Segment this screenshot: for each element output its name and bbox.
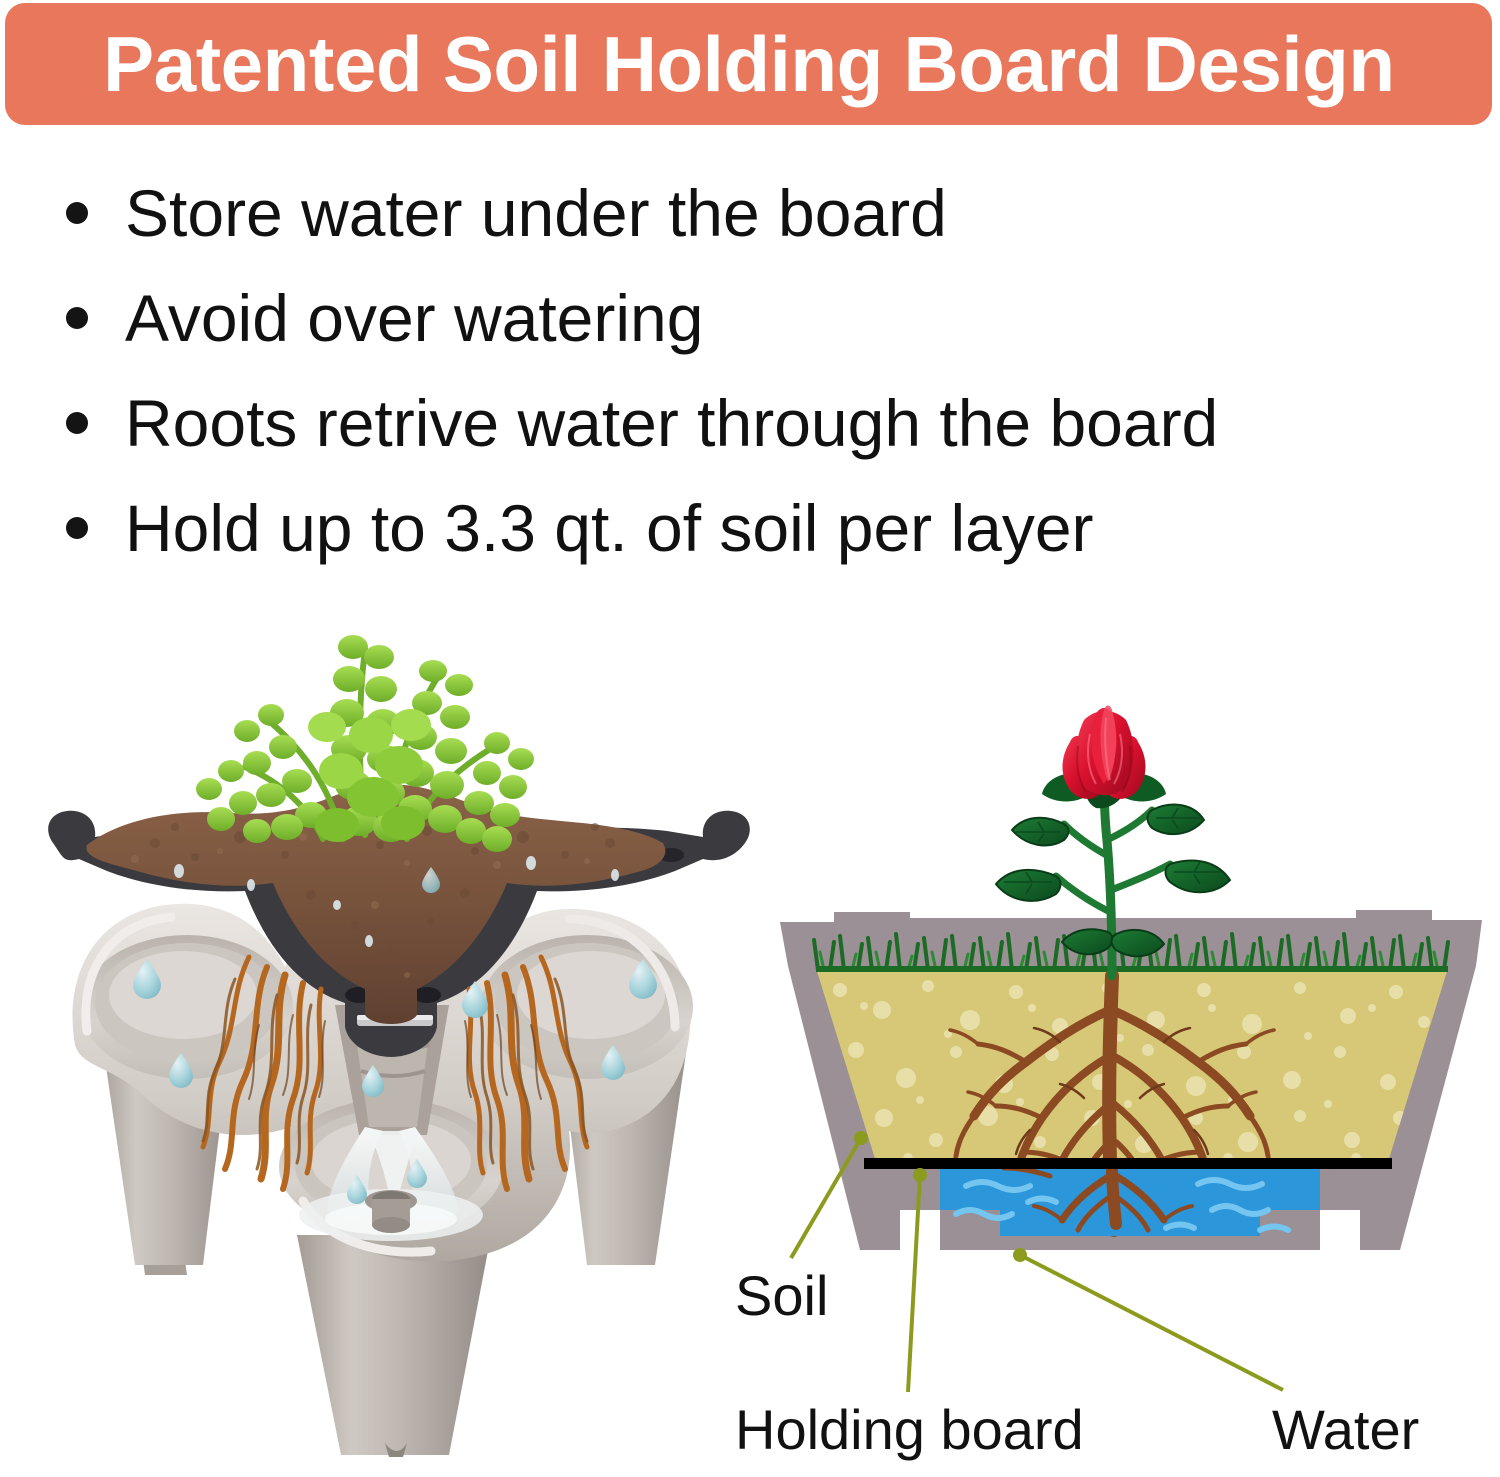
callout-label-water: Water xyxy=(1272,1402,1419,1458)
bullet-icon xyxy=(66,307,88,329)
feature-item: Store water under the board xyxy=(0,160,1500,265)
page-title: Patented Soil Holding Board Design xyxy=(103,25,1394,103)
feature-item: Hold up to 3.3 qt. of soil per layer xyxy=(0,475,1500,580)
callout-label-soil: Soil xyxy=(735,1268,828,1324)
feature-list: Store water under the board Avoid over w… xyxy=(0,160,1500,580)
bullet-icon xyxy=(66,202,88,224)
feature-label: Hold up to 3.3 qt. of soil per layer xyxy=(125,495,1094,561)
feature-label: Avoid over watering xyxy=(125,285,703,351)
header-banner: Patented Soil Holding Board Design xyxy=(5,3,1492,125)
feature-label: Roots retrive water through the board xyxy=(125,390,1218,456)
holding-board-line xyxy=(864,1158,1392,1169)
feature-item: Avoid over watering xyxy=(0,265,1500,370)
stacked-planter-photo xyxy=(35,575,765,1460)
bullet-icon xyxy=(66,517,88,539)
bullet-icon xyxy=(66,412,88,434)
feature-item: Roots retrive water through the board xyxy=(0,370,1500,475)
feature-label: Store water under the board xyxy=(125,180,947,246)
callout-label-holding-board: Holding board xyxy=(735,1402,1084,1458)
rose-bloom xyxy=(1042,706,1166,809)
pot-cross-section-diagram xyxy=(760,690,1500,1290)
